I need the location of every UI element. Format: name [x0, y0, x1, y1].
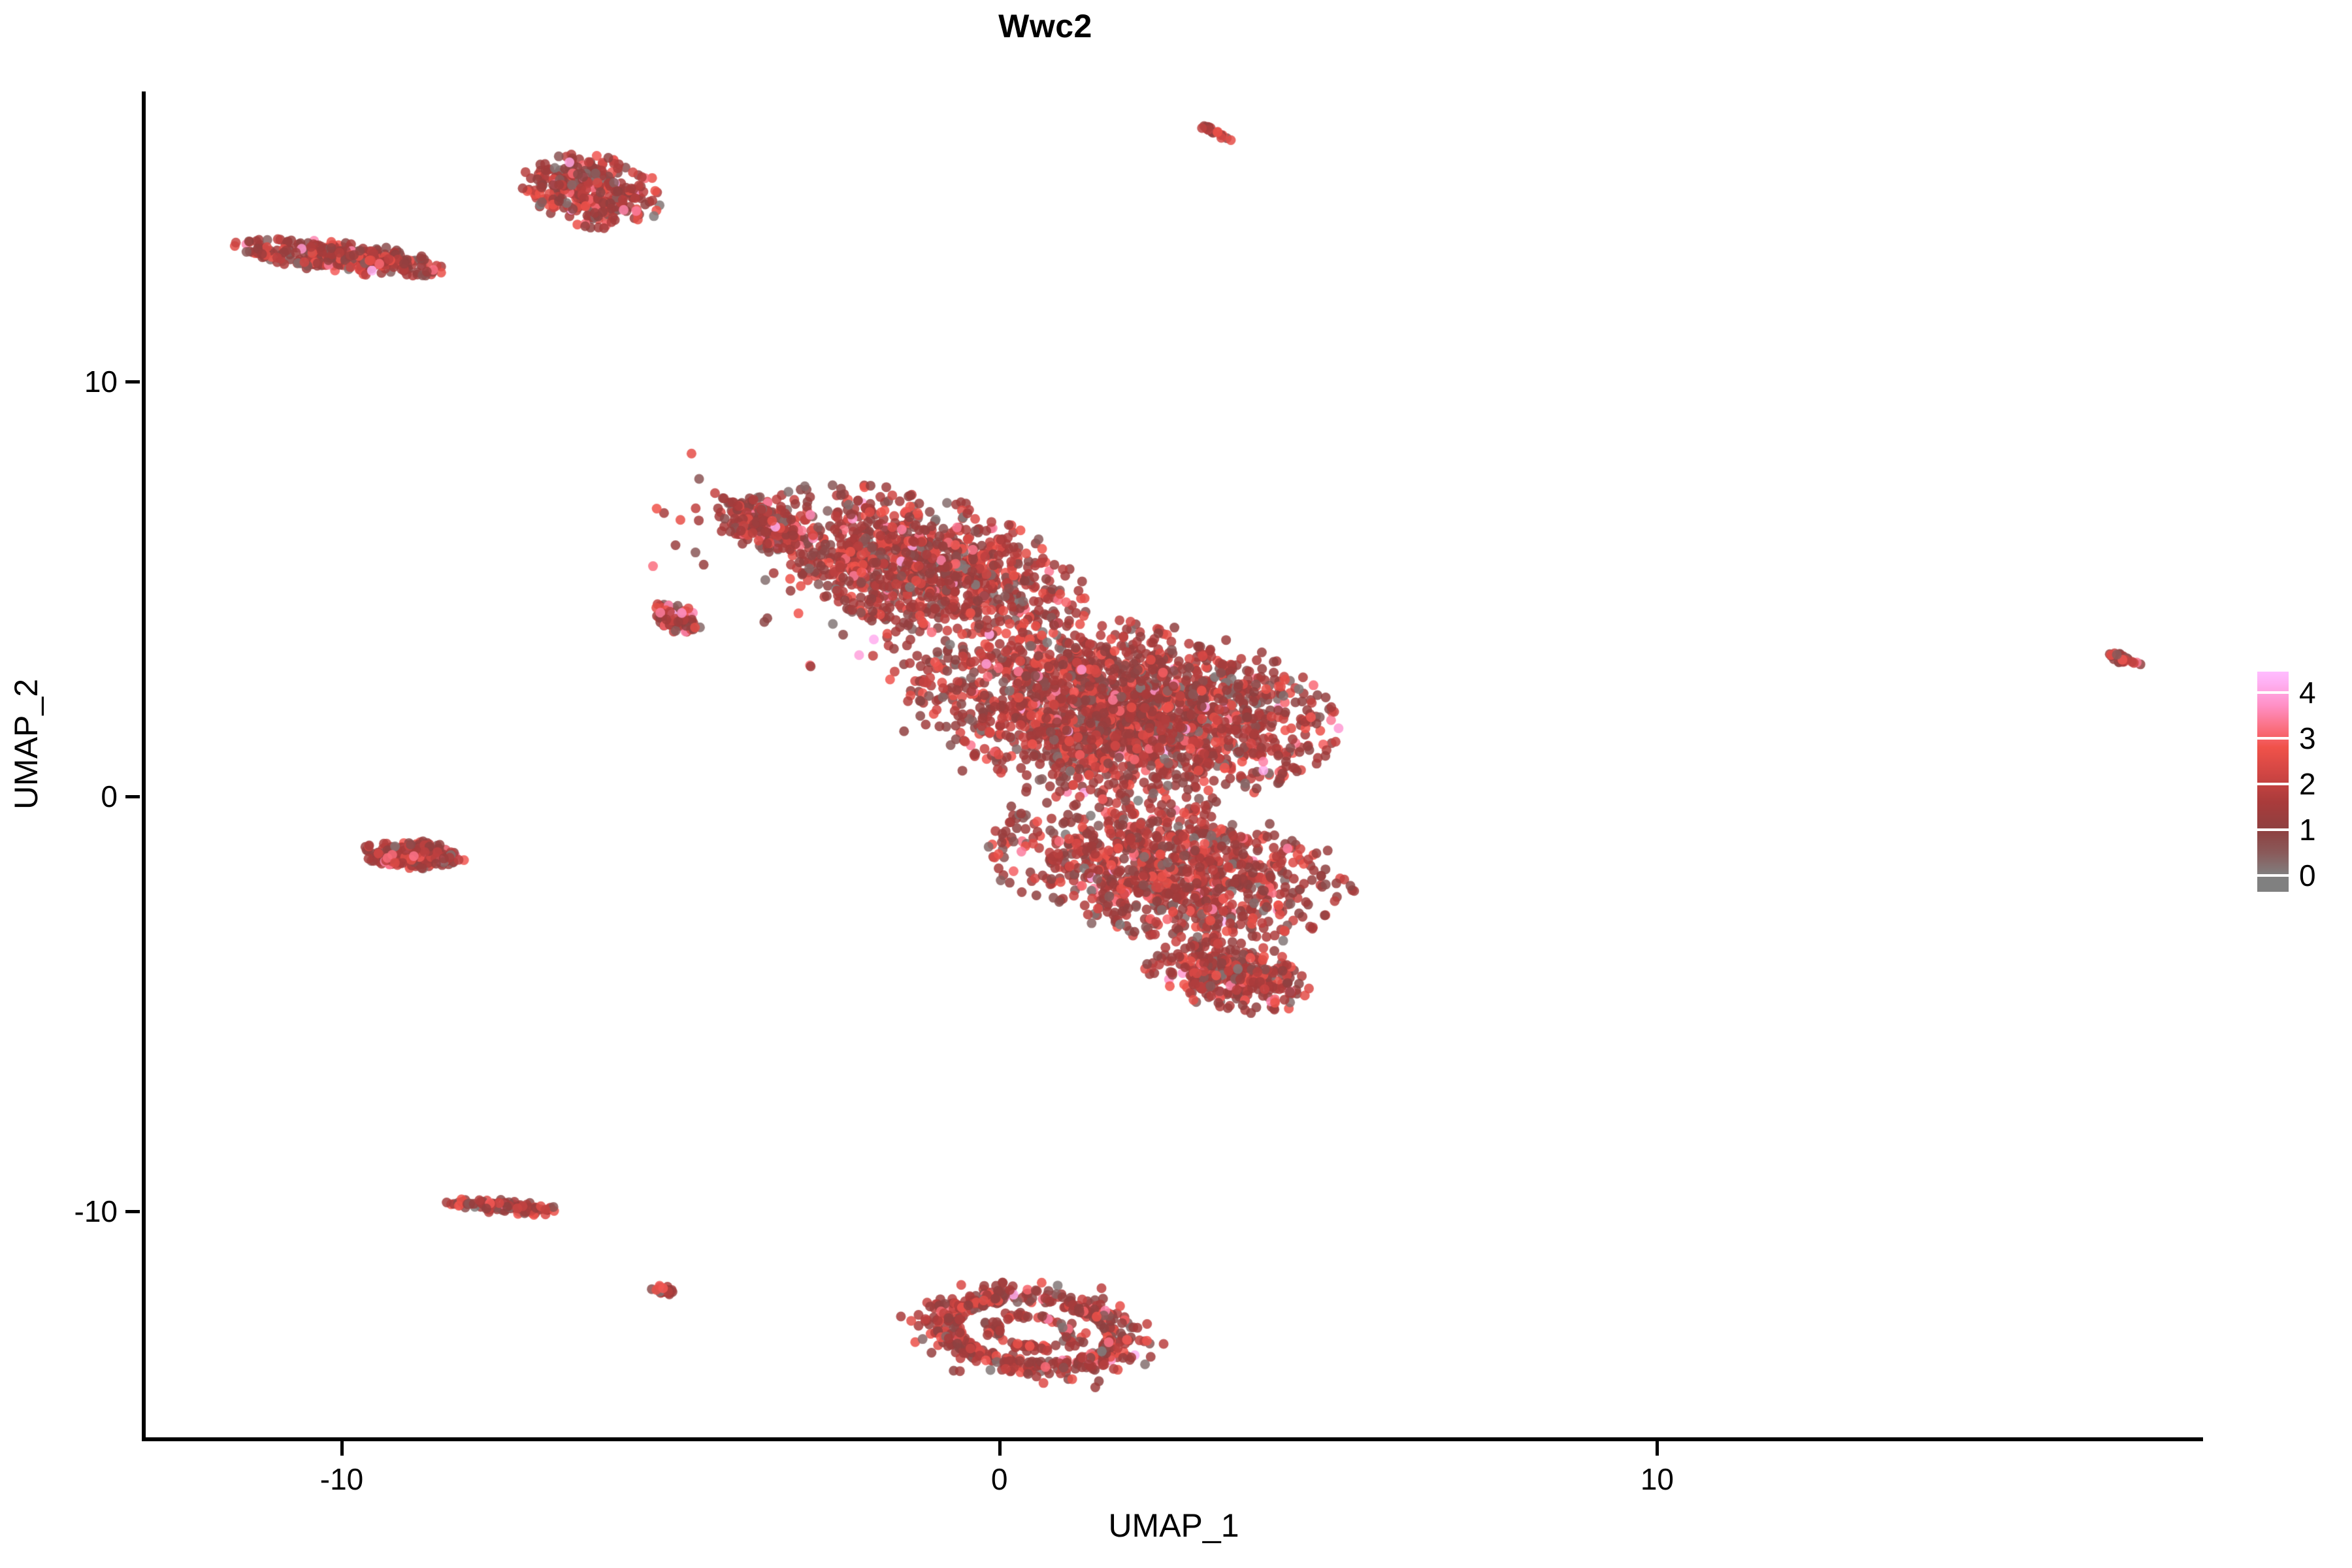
umap-feature-plot: Wwc2 -10010 -10010 UMAP_1 UMAP_2 43210 [0, 0, 2352, 1568]
y-tick-mark [125, 1210, 140, 1213]
y-axis-line [142, 91, 146, 1441]
colorbar-tick-mark [2257, 874, 2289, 877]
colorbar-tick-label: 0 [2299, 859, 2316, 892]
colorbar-tick-label: 1 [2299, 813, 2316, 846]
x-axis-line [142, 1437, 2203, 1441]
colorbar-tick-mark [2257, 783, 2289, 785]
colorbar-tick-mark [2257, 691, 2289, 694]
x-tick-mark [1656, 1441, 1659, 1456]
x-tick-mark [998, 1441, 1002, 1456]
y-tick-mark [125, 795, 140, 798]
colorbar-tick-mark [2257, 828, 2289, 831]
plot-panel [144, 91, 2203, 1439]
colorbar-tick-inner [2264, 783, 2270, 785]
colorbar-gradient [2257, 672, 2289, 892]
x-tick-label: 0 [991, 1462, 1008, 1496]
x-axis-label: UMAP_1 [144, 1507, 2203, 1544]
colorbar-tick-label: 4 [2299, 676, 2316, 709]
colorbar-tick-label: 2 [2299, 768, 2316, 800]
y-tick-label: -10 [0, 1194, 118, 1228]
y-tick-label: 10 [0, 365, 118, 399]
x-tick-mark [340, 1441, 344, 1456]
colorbar-tick-inner [2264, 828, 2270, 831]
colorbar-legend: 43210 [2257, 672, 2349, 894]
x-tick-label: 10 [1641, 1462, 1674, 1496]
page-title: Wwc2 [0, 7, 2221, 46]
colorbar-tick-inner [2264, 874, 2270, 877]
y-tick-mark [125, 380, 140, 384]
colorbar-tick-inner [2264, 737, 2270, 740]
scatter-points-canvas [144, 91, 2203, 1439]
colorbar-tick-label: 3 [2299, 722, 2316, 755]
colorbar-tick-inner [2264, 691, 2270, 694]
colorbar-tick-mark [2257, 737, 2289, 740]
x-tick-label: -10 [320, 1462, 363, 1496]
y-axis-label: UMAP_2 [7, 417, 45, 1071]
